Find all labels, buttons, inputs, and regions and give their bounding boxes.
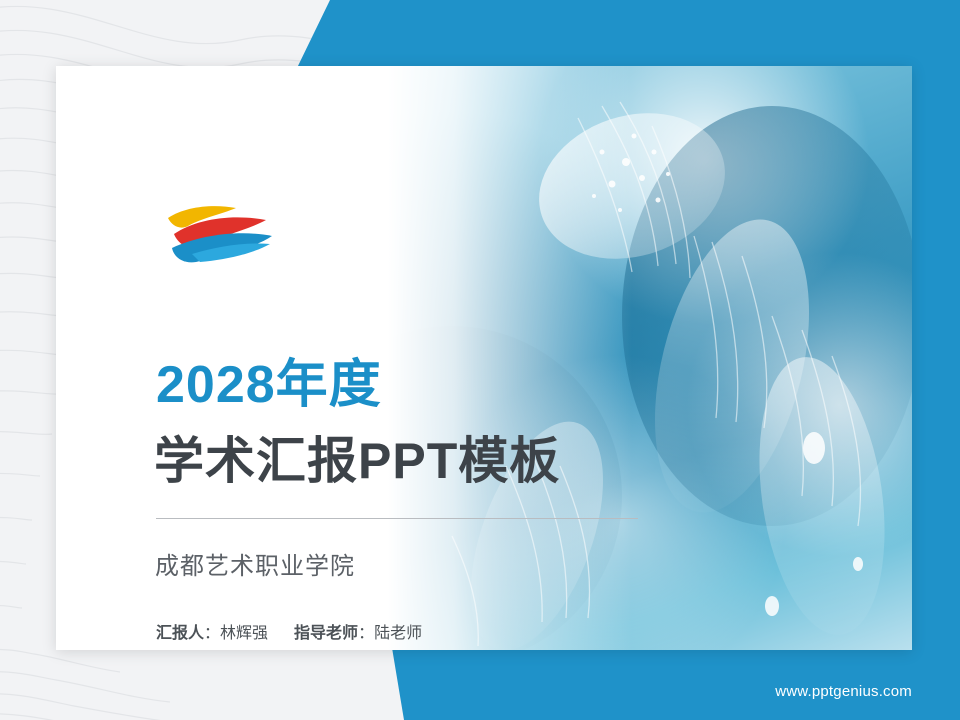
presentation-slide: 2028年度 学术汇报PPT模板 成都艺术职业学院 汇报人：林辉强指导老师：陆老… (0, 0, 960, 720)
advisor-name: 陆老师 (374, 625, 422, 642)
institution-logo-icon (162, 204, 278, 266)
slide-title-year: 2028年度 (156, 359, 382, 411)
presenter-info: 汇报人：林辉强指导老师：陆老师 (156, 619, 422, 643)
slide-card: 2028年度 学术汇报PPT模板 成都艺术职业学院 汇报人：林辉强指导老师：陆老… (56, 66, 912, 650)
footer-website-url: www.pptgenius.com (775, 683, 912, 700)
cover-photo (302, 66, 912, 650)
institution-name: 成都艺术职业学院 (155, 546, 355, 581)
presenter-label: 汇报人 (156, 625, 204, 642)
presenter-name: 林辉强 (220, 625, 268, 642)
advisor-label: 指导老师 (294, 625, 358, 642)
presenter-separator: ： (204, 625, 220, 642)
title-divider (156, 518, 638, 519)
advisor-separator: ： (358, 625, 374, 642)
slide-title-main: 学术汇报PPT模板 (154, 436, 560, 486)
